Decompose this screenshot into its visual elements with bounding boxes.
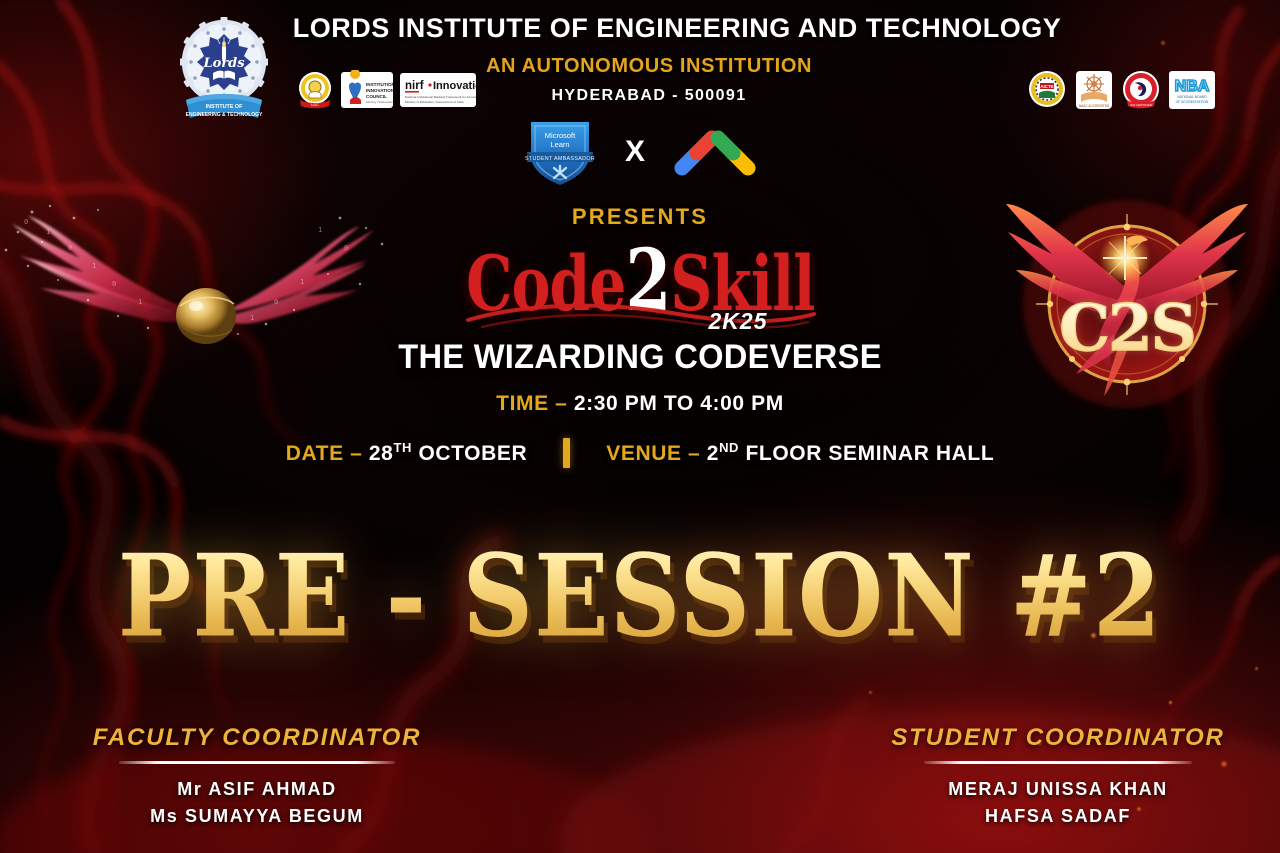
svg-text:INSTITUTE OF: INSTITUTE OF [206,104,244,110]
student-coordinator-name: MERAJ UNISSA KHAN [878,776,1238,803]
svg-text:INNOVATION: INNOVATION [366,88,393,93]
svg-text:National Institutional Ranking: National Institutional Ranking Framework… [405,95,476,99]
partner-logos: Microsoft Learn STUDENT AMBASSADOR X [0,116,1280,188]
time-value: 2:30 PM TO 4:00 PM [574,392,784,415]
svg-text:NAAC ACCREDITED: NAAC ACCREDITED [1079,104,1110,108]
svg-text:NBA: NBA [1175,78,1210,95]
ember-particle [1168,700,1173,705]
ugc-seal-icon: UGC [296,70,334,110]
nba-seal-icon: NBA NATIONAL BOARD OF ACCREDITATION [1168,69,1216,111]
venue-value: 2ND FLOOR SEMINAR HALL [707,442,995,465]
svg-text:COUNCIL: COUNCIL [366,94,387,99]
event-poster: 010 101 101 01 [0,0,1280,853]
faculty-coordinator-title: FACULTY COORDINATOR [62,724,452,752]
faculty-coordinator-rule [119,761,395,764]
poster-header: Lords INSTITUTE OF ENGINEERING & TECHNOL… [0,14,1280,105]
time-line: TIME – 2:30 PM TO 4:00 PM [0,392,1280,416]
date-block: DATE – 28TH OCTOBER [286,440,528,466]
ember-particle [1254,666,1259,671]
meta-divider [563,438,570,468]
crest-wordmark: Lords [202,56,245,71]
microsoft-learn-student-ambassador-badge-icon: Microsoft Learn STUDENT AMBASSADOR [521,116,599,188]
accreditation-badges-right: AICTE NAAC ACCREDITED [1027,69,1216,111]
event-year: 2K25 [0,308,1280,335]
svg-text:Learn: Learn [550,140,569,149]
google-developer-groups-icon [671,124,759,180]
iso-seal-icon: ISO CERTIFIED [1121,69,1161,111]
partner-separator: X [625,137,645,167]
venue-label: VENUE – [606,442,700,465]
venue-block: VENUE – 2ND FLOOR SEMINAR HALL [606,440,994,466]
ember-particle [868,690,873,695]
accreditation-badges-left: UGC INSTITUTION'S INNOVATION COUNCIL Min… [296,70,476,110]
institute-name: LORDS INSTITUTE OF ENGINEERING AND TECHN… [190,14,1090,42]
date-venue-line: DATE – 28TH OCTOBER VENUE – 2ND FLOOR SE… [0,438,1280,468]
svg-text:nirf: nirf [405,80,424,92]
svg-text:OF ACCREDITATION: OF ACCREDITATION [1176,100,1209,104]
nirf-innovation-icon: nirf Innovation National Institutional R… [400,70,476,110]
svg-text:NATIONAL BOARD: NATIONAL BOARD [1177,95,1207,99]
session-headline: PRE - SESSION #2 [118,540,1162,653]
event-logotype: Code2Skill [0,238,1280,308]
svg-text:STUDENT AMBASSADOR: STUDENT AMBASSADOR [525,156,595,162]
naac-seal-icon: NAAC ACCREDITED [1074,69,1114,111]
headline-wrap: PRE - SESSION #2 [0,540,1280,636]
presents-label: PRESENTS [0,204,1280,230]
svg-text:Ministry of Education: Ministry of Education [366,100,393,104]
svg-text:Innovation: Innovation [433,80,476,92]
date-value: 28TH OCTOBER [369,442,527,465]
svg-text:ISO CERTIFIED: ISO CERTIFIED [1130,103,1153,107]
faculty-coordinator-name: Ms SUMAYYA BEGUM [62,803,452,830]
lords-institute-crest-icon: Lords INSTITUTE OF ENGINEERING & TECHNOL… [180,16,268,124]
student-coordinator-rule [924,761,1192,764]
svg-text:AICTE: AICTE [1040,84,1053,89]
student-coordinator-title: STUDENT COORDINATOR [878,724,1238,752]
svg-text:UGC: UGC [311,103,319,107]
aicte-seal-icon: AICTE [1027,69,1067,111]
faculty-coordinator-block: FACULTY COORDINATOR Mr ASIF AHMAD Ms SUM… [62,724,452,830]
faculty-coordinator-name: Mr ASIF AHMAD [62,776,452,803]
event-tagline: THE WIZARDING CODEVERSE [26,338,1255,377]
svg-text:INSTITUTION'S: INSTITUTION'S [366,82,393,87]
date-label: DATE – [286,442,363,465]
student-coordinator-block: STUDENT COORDINATOR MERAJ UNISSA KHAN HA… [878,724,1238,830]
student-coordinator-name: HAFSA SADAF [878,803,1238,830]
svg-text:Ministry of Education, Governm: Ministry of Education, Government of Ind… [405,100,464,104]
svg-text:Microsoft: Microsoft [545,131,576,140]
time-label: TIME – [496,392,567,415]
institutions-innovation-council-icon: INSTITUTION'S INNOVATION COUNCIL Ministr… [341,70,393,110]
